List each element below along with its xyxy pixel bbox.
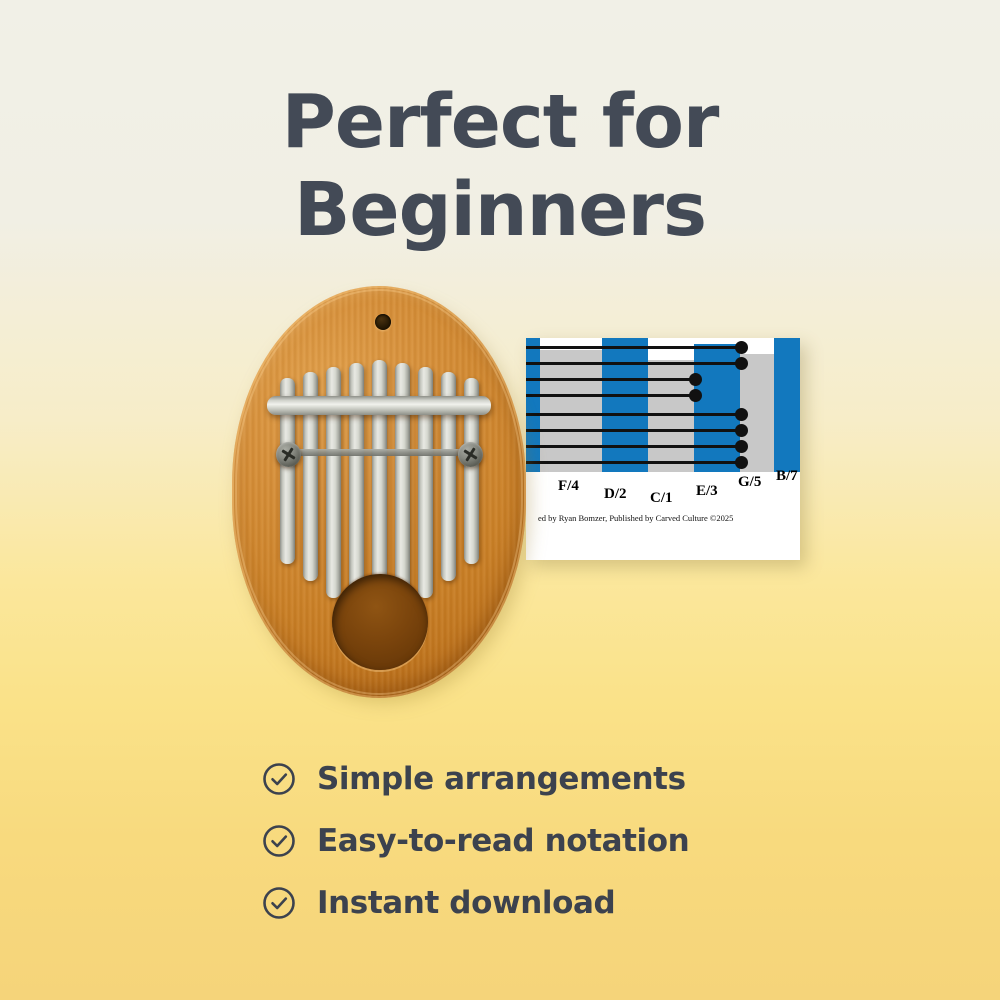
note-stem xyxy=(526,445,742,448)
headline-line-1: Perfect for xyxy=(0,78,1000,166)
page-title: Perfect for Beginners xyxy=(0,78,1000,254)
chart-column-label: E/3 xyxy=(696,483,718,500)
credit-line: ed by Ryan Bomzer, Published by Carved C… xyxy=(538,513,796,523)
promo-graphic: Perfect for Beginners F/4D/2C/1E/3G/5B/7… xyxy=(0,0,1000,1000)
headline-line-2: Beginners xyxy=(0,166,1000,254)
notation-card: F/4D/2C/1E/3G/5B/7 ed by Ryan Bomzer, Pu… xyxy=(526,338,800,560)
chart-bar xyxy=(556,350,602,472)
kalimba-bridge-bar xyxy=(267,396,491,415)
note-head xyxy=(689,373,702,386)
note-head xyxy=(735,357,748,370)
chart-column-label: F/4 xyxy=(558,478,579,495)
chart-column-label: G/5 xyxy=(738,474,761,491)
note-stem xyxy=(526,413,742,416)
check-circle-icon xyxy=(262,886,296,920)
kalimba-lower-rail xyxy=(290,449,470,456)
check-circle-icon xyxy=(262,824,296,858)
kalimba-instrument xyxy=(232,286,532,702)
list-item-label: Instant download xyxy=(317,885,615,921)
chart-bar xyxy=(540,350,556,472)
chart-column-label: C/1 xyxy=(650,490,673,507)
kalimba-sound-hole xyxy=(332,574,428,670)
note-stem xyxy=(526,394,696,397)
note-head xyxy=(735,341,748,354)
note-stem xyxy=(526,346,742,349)
list-item: Instant download xyxy=(262,872,782,934)
chart-column-label: B/7 xyxy=(776,468,798,485)
feature-list: Simple arrangements Easy-to-read notatio… xyxy=(262,748,782,934)
chart-bar xyxy=(648,360,694,472)
chart-column-label: D/2 xyxy=(604,486,627,503)
note-stem xyxy=(526,378,696,381)
list-item: Easy-to-read notation xyxy=(262,810,782,872)
note-head xyxy=(735,440,748,453)
chart-bar xyxy=(602,338,648,472)
note-head xyxy=(735,424,748,437)
chart-bar xyxy=(774,338,800,472)
note-head xyxy=(735,408,748,421)
note-stem xyxy=(526,362,742,365)
chart-column-labels: F/4D/2C/1E/3G/5B/7 xyxy=(526,464,800,498)
kalimba-tab-chart xyxy=(526,338,800,472)
note-head xyxy=(689,389,702,402)
check-circle-icon xyxy=(262,762,296,796)
list-item-label: Easy-to-read notation xyxy=(317,823,689,859)
kalimba-screw-left xyxy=(276,442,301,467)
list-item-label: Simple arrangements xyxy=(317,761,686,797)
list-item: Simple arrangements xyxy=(262,748,782,810)
kalimba-screw-right xyxy=(458,442,483,467)
note-stem xyxy=(526,429,742,432)
